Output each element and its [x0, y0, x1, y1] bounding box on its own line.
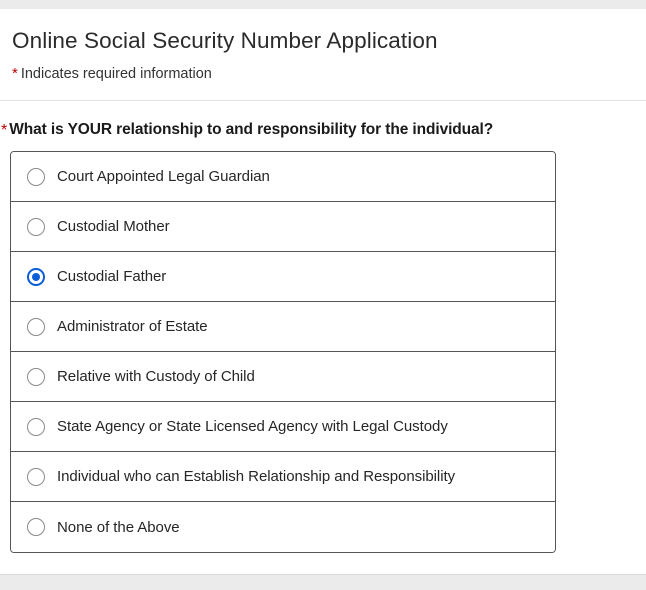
radio-button-icon[interactable]	[27, 518, 45, 536]
radio-button-icon[interactable]	[27, 168, 45, 186]
radio-option-label: Custodial Mother	[57, 217, 170, 236]
radio-option-label: None of the Above	[57, 518, 180, 537]
radio-button-icon[interactable]	[27, 318, 45, 336]
radio-option-label: Relative with Custody of Child	[57, 367, 255, 386]
browser-chrome-top-strip	[0, 0, 646, 9]
radio-option-row[interactable]: Custodial Mother	[11, 202, 555, 252]
required-information-note: *Indicates required information	[12, 65, 212, 83]
radio-button-icon[interactable]	[27, 418, 45, 436]
radio-option-label: Administrator of Estate	[57, 317, 208, 336]
radio-button-icon[interactable]	[27, 468, 45, 486]
radio-option-label: Court Appointed Legal Guardian	[57, 167, 270, 186]
radio-option-row[interactable]: Administrator of Estate	[11, 302, 555, 352]
radio-option-row[interactable]: None of the Above	[11, 502, 555, 552]
question-label: What is YOUR relationship to and respons…	[9, 120, 493, 140]
question-block: * What is YOUR relationship to and respo…	[0, 120, 646, 140]
radio-option-row[interactable]: Individual who can Establish Relationshi…	[11, 452, 555, 502]
radio-option-label: Individual who can Establish Relationshi…	[57, 467, 455, 486]
radio-option-label: Custodial Father	[57, 267, 166, 286]
radio-option-row[interactable]: Relative with Custody of Child	[11, 352, 555, 402]
page-title: Online Social Security Number Applicatio…	[12, 27, 438, 54]
radio-option-row[interactable]: State Agency or State Licensed Agency wi…	[11, 402, 555, 452]
page-header: Online Social Security Number Applicatio…	[0, 9, 646, 101]
radio-button-icon[interactable]	[27, 368, 45, 386]
relationship-radio-group[interactable]: Court Appointed Legal Guardian Custodial…	[10, 151, 556, 553]
browser-chrome-bottom-strip	[0, 574, 646, 590]
required-asterisk-icon: *	[12, 65, 18, 82]
radio-button-selected-icon[interactable]	[27, 268, 45, 286]
question-required-asterisk-icon: *	[1, 122, 7, 140]
radio-option-label: State Agency or State Licensed Agency wi…	[57, 417, 448, 436]
radio-option-row[interactable]: Court Appointed Legal Guardian	[11, 152, 555, 202]
radio-option-row[interactable]: Custodial Father	[11, 252, 555, 302]
radio-button-icon[interactable]	[27, 218, 45, 236]
required-note-text: Indicates required information	[21, 66, 212, 82]
